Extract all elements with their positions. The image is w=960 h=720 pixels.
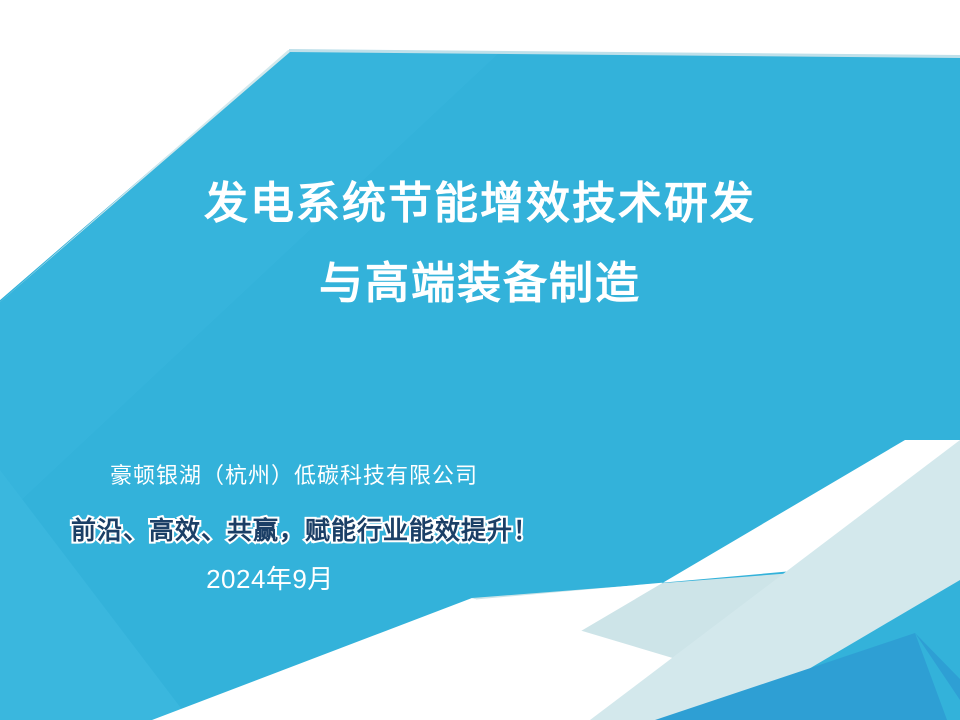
slogan-text: 前沿、高效、共赢，赋能行业能效提升！ <box>0 513 610 549</box>
slide-text-layer: 发电系统节能增效技术研发 与高端装备制造 豪顿银湖（杭州）低碳科技有限公司 前沿… <box>0 0 960 720</box>
page-title: 发电系统节能增效技术研发 与高端装备制造 <box>0 168 960 320</box>
title-line-1: 发电系统节能增效技术研发 <box>0 168 960 240</box>
title-line-2: 与高端装备制造 <box>0 248 960 320</box>
title-slide: 发电系统节能增效技术研发 与高端装备制造 豪顿银湖（杭州）低碳科技有限公司 前沿… <box>0 0 960 720</box>
company-name: 豪顿银湖（杭州）低碳科技有限公司 <box>0 461 588 491</box>
date-text: 2024年9月 <box>0 562 540 596</box>
